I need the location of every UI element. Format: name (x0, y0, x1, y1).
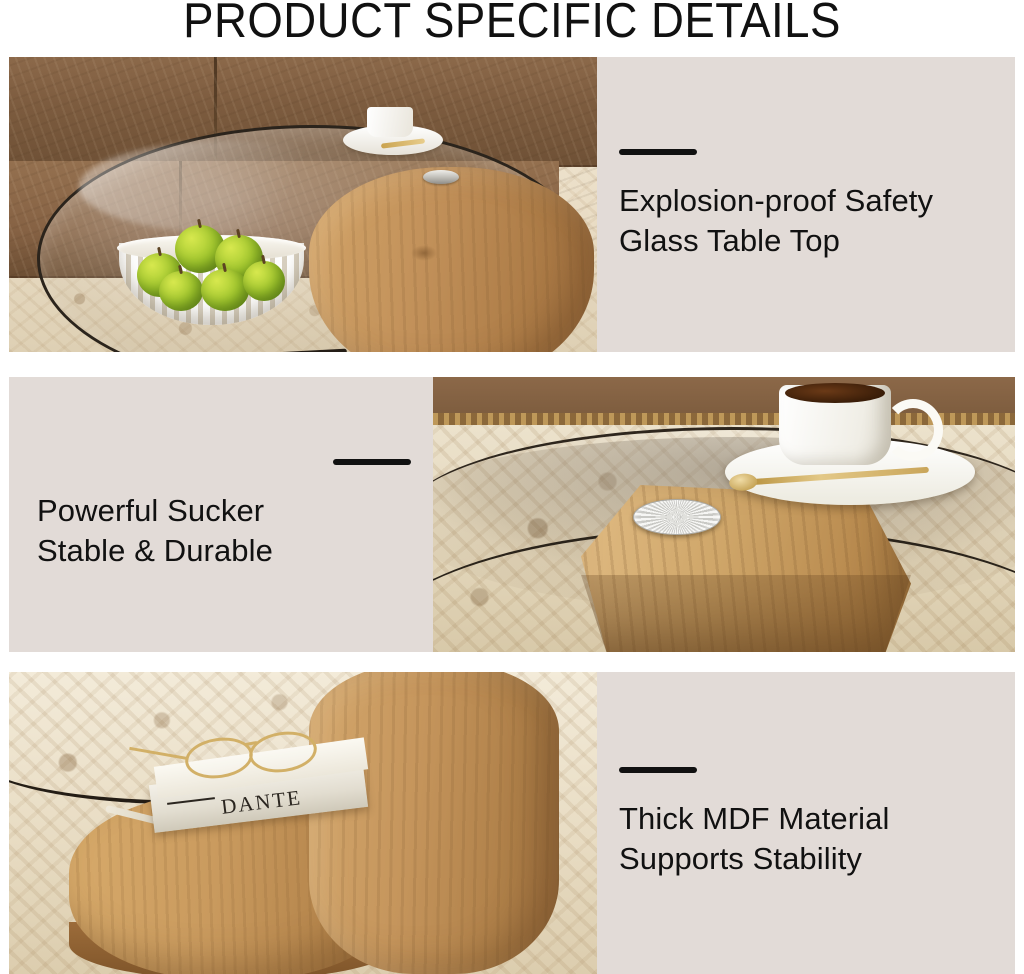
product-details-infographic: PRODUCT SPECIFIC DETAILS (0, 0, 1024, 974)
caption-pane-2: Powerful Sucker Stable & Durable (9, 377, 433, 652)
cup-handle (883, 399, 943, 461)
upper-wooden-base (309, 672, 559, 974)
caption-dash (619, 149, 697, 155)
suction-disc (423, 170, 459, 184)
product-photo-suction-disc (433, 377, 1015, 652)
caption-pane-3: Thick MDF Material Supports Stability (597, 672, 1015, 974)
caption-dash (333, 459, 411, 465)
green-apple (159, 271, 203, 311)
coffee-cup (367, 107, 413, 137)
detail-panel-1: Explosion-proof Safety Glass Table Top (9, 57, 1015, 352)
caption-text-2: Powerful Sucker Stable & Durable (37, 491, 433, 571)
wood-knot-detail (411, 245, 437, 261)
green-apple (201, 269, 249, 311)
green-apple (243, 261, 285, 301)
caption-pane-1: Explosion-proof Safety Glass Table Top (597, 57, 1015, 352)
caption-dash (619, 767, 697, 773)
detail-panel-3: DANTE Thick MDF Material Supports Stabil… (9, 672, 1015, 974)
product-photo-glass-table-top (9, 57, 597, 352)
suction-disc (633, 499, 721, 535)
wooden-table-base (309, 167, 594, 352)
wood-base-shading (581, 575, 911, 652)
product-photo-mdf-base: DANTE (9, 672, 597, 974)
coffee-liquid (785, 383, 885, 403)
caption-text-1: Explosion-proof Safety Glass Table Top (619, 181, 1015, 261)
page-title: PRODUCT SPECIFIC DETAILS (36, 0, 988, 49)
detail-panel-2: Powerful Sucker Stable & Durable (9, 377, 1015, 652)
caption-text-3: Thick MDF Material Supports Stability (619, 799, 1015, 879)
